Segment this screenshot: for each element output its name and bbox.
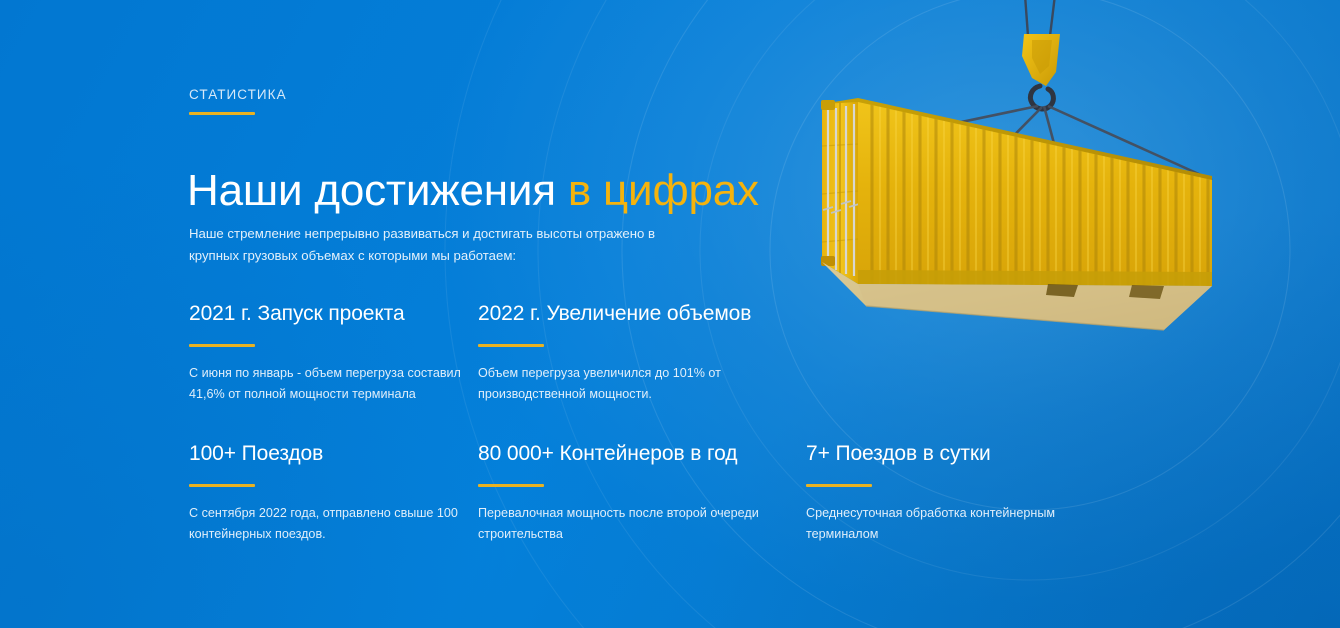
stat-description: Перевалочная мощность после второй очере… xyxy=(478,503,778,545)
stat-divider xyxy=(478,484,544,487)
stat-description: Среднесуточная обработка контейнерным те… xyxy=(806,503,1096,545)
statistics-section: СТАТИСТИКА Наши достижения в цифрах Наше… xyxy=(0,0,1340,628)
stat-divider xyxy=(478,344,544,347)
headline-main-text: Наши достижения xyxy=(187,166,568,215)
stat-item: 2022 г. Увеличение объемов Объем перегру… xyxy=(478,300,778,405)
stat-title: 2022 г. Увеличение объемов xyxy=(478,300,778,327)
statistics-row-1: 2021 г. Запуск проекта С июня по январь … xyxy=(189,300,1189,440)
stat-divider xyxy=(806,484,872,487)
stat-item: 80 000+ Контейнеров в год Перевалочная м… xyxy=(478,440,778,545)
eyebrow-divider xyxy=(189,112,255,115)
stat-description: С июня по январь - объем перегруза соста… xyxy=(189,363,469,405)
stat-divider xyxy=(189,344,255,347)
stat-title: 2021 г. Запуск проекта xyxy=(189,300,469,327)
stat-description: Объем перегруза увеличился до 101% от пр… xyxy=(478,363,778,405)
stat-title: 80 000+ Контейнеров в год xyxy=(478,440,778,467)
statistics-row-2: 100+ Поездов С сентября 2022 года, отпра… xyxy=(189,440,1189,580)
stat-description: С сентября 2022 года, отправлено свыше 1… xyxy=(189,503,469,545)
section-intro-paragraph: Наше стремление непрерывно развиваться и… xyxy=(189,223,659,267)
stat-item: 2021 г. Запуск проекта С июня по январь … xyxy=(189,300,469,405)
stat-title: 100+ Поездов xyxy=(189,440,469,467)
statistics-grid: 2021 г. Запуск проекта С июня по январь … xyxy=(189,300,1189,580)
section-content: СТАТИСТИКА Наши достижения в цифрах Наше… xyxy=(189,0,1189,628)
stat-item: 100+ Поездов С сентября 2022 года, отпра… xyxy=(189,440,469,545)
stat-divider xyxy=(189,484,255,487)
page-title: Наши достижения в цифрах xyxy=(187,167,759,215)
headline-accent-text: в цифрах xyxy=(568,166,759,215)
section-eyebrow-label: СТАТИСТИКА xyxy=(189,87,287,102)
stat-title: 7+ Поездов в сутки xyxy=(806,440,1096,467)
stat-item: 7+ Поездов в сутки Среднесуточная обрабо… xyxy=(806,440,1096,545)
